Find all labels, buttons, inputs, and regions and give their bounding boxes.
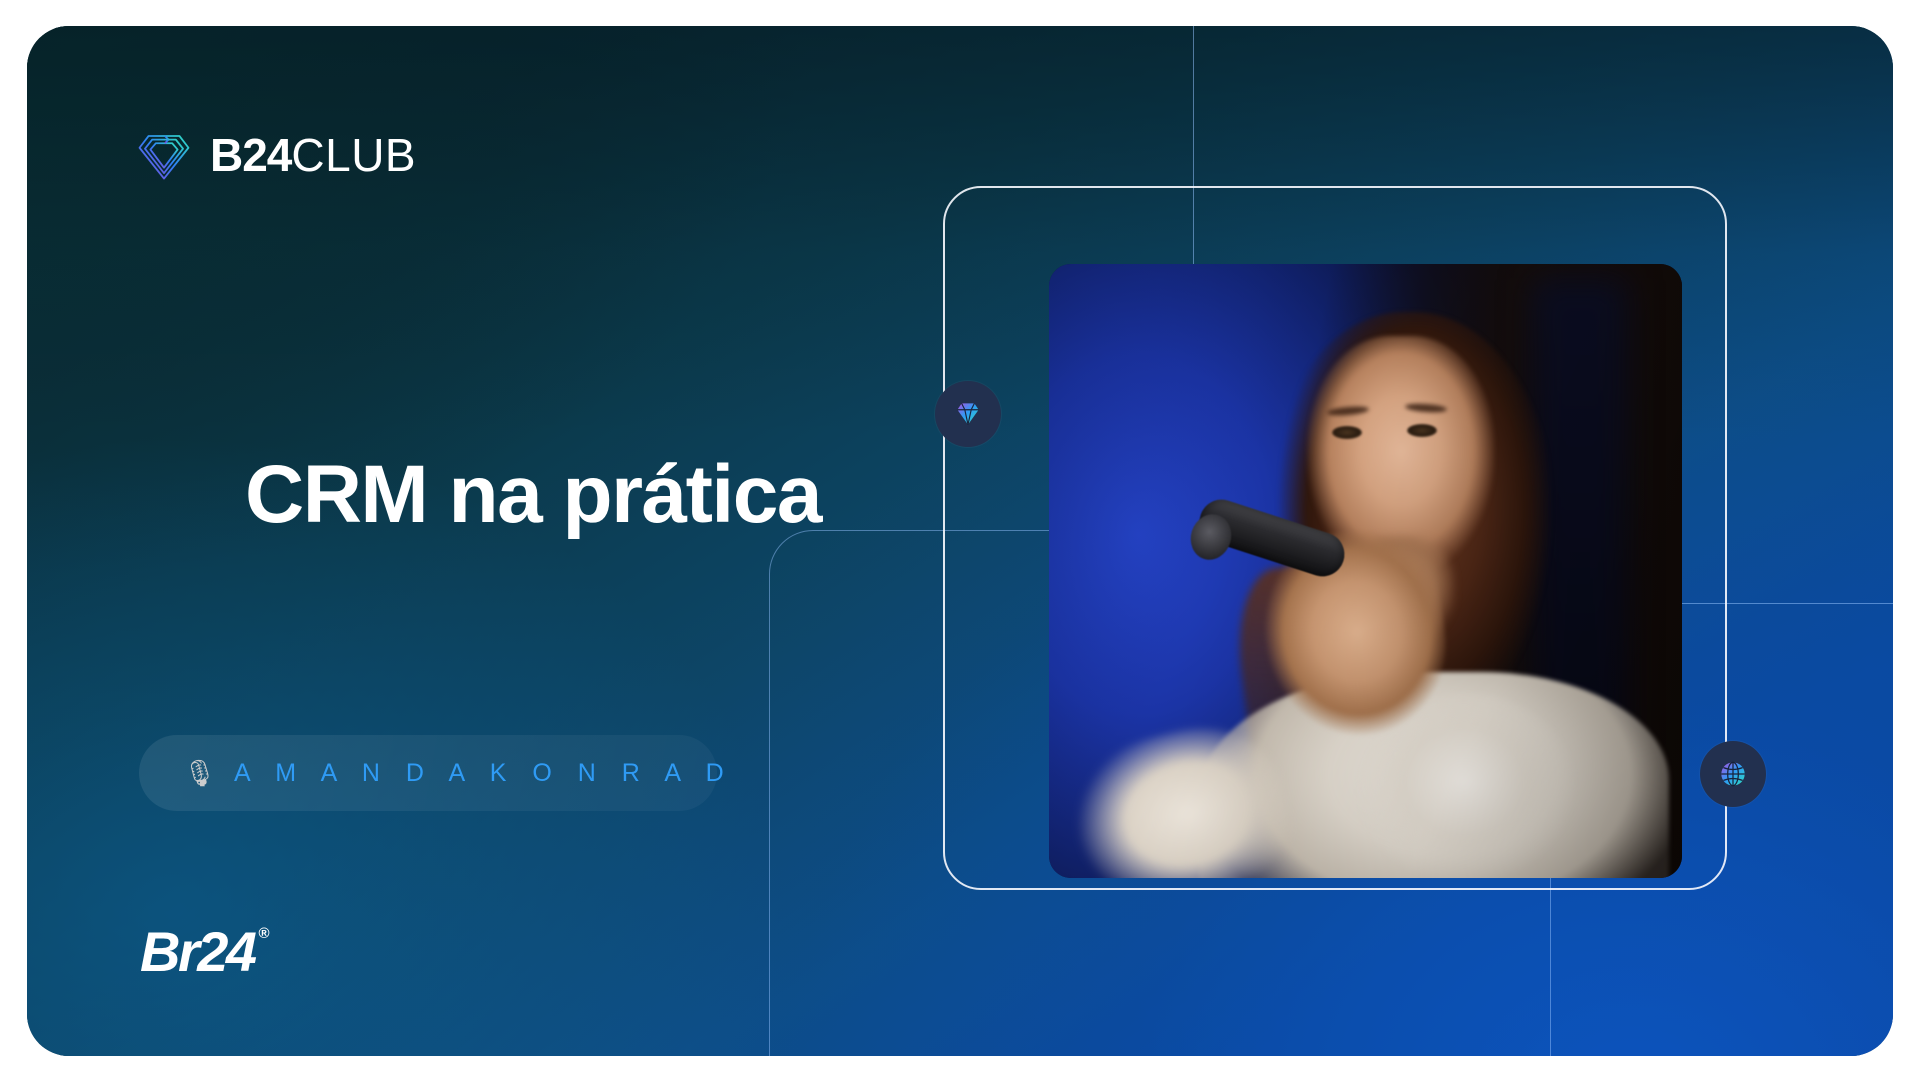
- diamond-icon: [951, 397, 985, 431]
- b24-text: B24: [210, 129, 291, 181]
- b24-club-logo: B24CLUB: [135, 126, 416, 184]
- title-strong: CRM: [245, 449, 427, 540]
- globe-icon: [1716, 757, 1750, 791]
- br24-wordmark: Br24: [140, 924, 255, 980]
- b24-club-wordmark: B24CLUB: [210, 132, 416, 178]
- presentation-card: B24CLUB CRM na prática 🎙 A M A N D A K O…: [27, 26, 1893, 1056]
- globe-badge: [1700, 741, 1766, 807]
- diamond-outline-icon: [135, 126, 193, 184]
- photo-backdrop: [1049, 264, 1682, 878]
- speaker-name-pill: 🎙 A M A N D A K O N R A D: [139, 735, 717, 811]
- registered-trademark-icon: ®: [259, 926, 270, 941]
- br24-logo: Br24 ®: [140, 924, 270, 980]
- title-regular: na prática: [449, 449, 821, 540]
- diamond-badge: [935, 381, 1001, 447]
- speaker-name: A M A N D A K O N R A D: [234, 759, 733, 788]
- slide-canvas: B24CLUB CRM na prática 🎙 A M A N D A K O…: [0, 0, 1920, 1080]
- microphone-icon: 🎙: [183, 760, 216, 786]
- club-text: CLUB: [291, 129, 416, 181]
- photo-overlay: [1049, 264, 1682, 878]
- page-title: CRM na prática: [245, 454, 821, 536]
- speaker-photo: [1049, 264, 1682, 878]
